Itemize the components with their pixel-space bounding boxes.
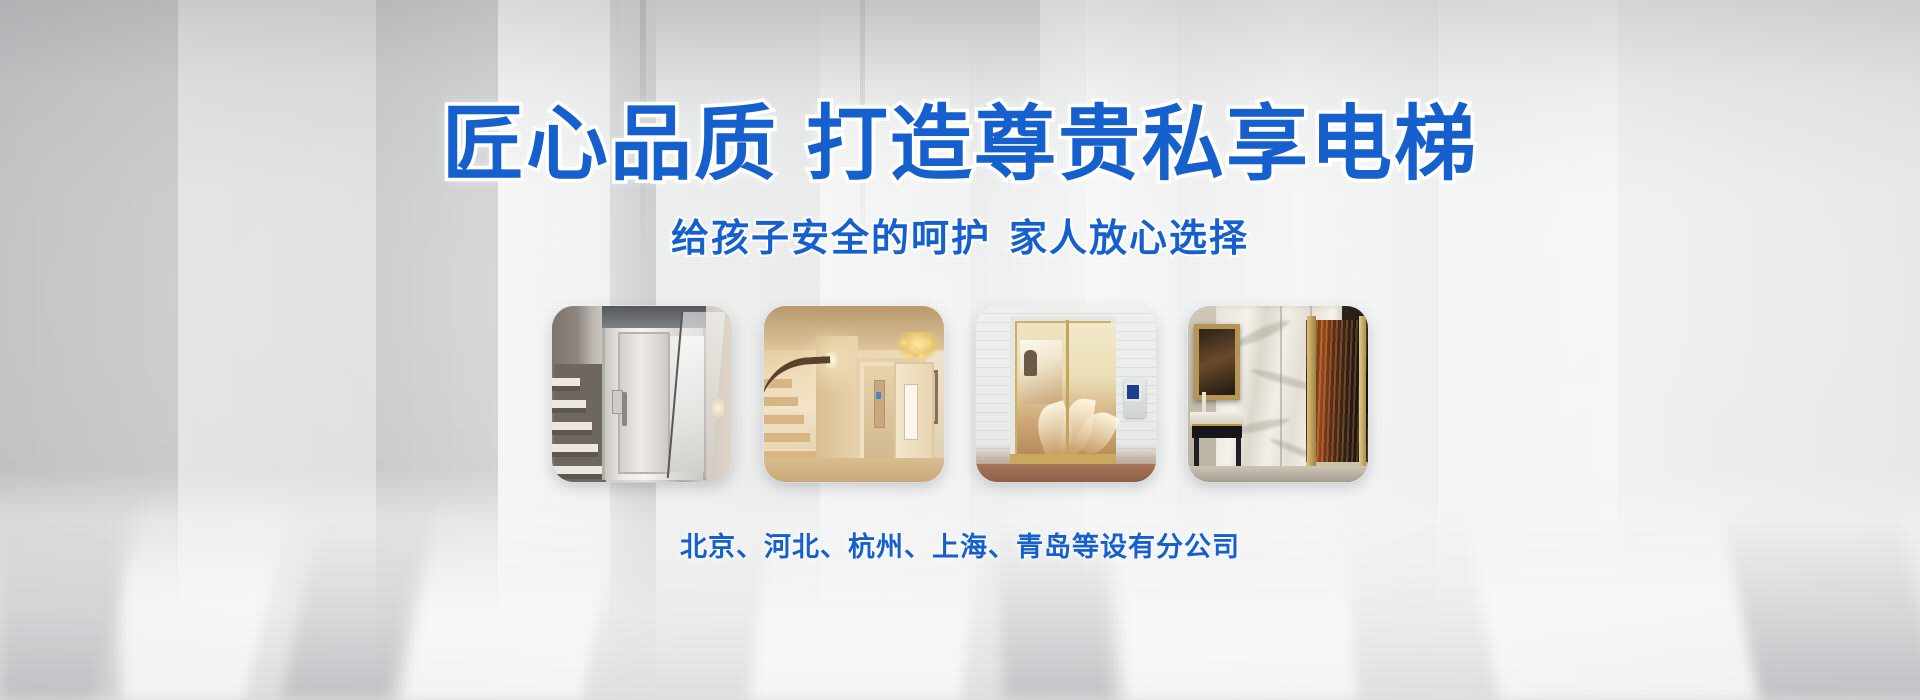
thumb-4-console-table-apron	[1192, 424, 1242, 438]
thumb-2-floor	[764, 458, 944, 482]
thumb-2-door-vision-panel	[904, 384, 918, 440]
headline-part-2: 打造尊贵私享电梯	[806, 99, 1478, 190]
thumb-1-step	[552, 378, 580, 386]
thumb-1-step	[552, 422, 592, 430]
thumb-3-floor-indicator-screen	[1125, 383, 1141, 401]
promo-banner: 匠心品质打造尊贵私享电梯 给孩子安全的呵护家人放心选择	[0, 0, 1920, 700]
banner-headline: 匠心品质打造尊贵私享电梯	[442, 104, 1478, 186]
thumbnail-marble-lobby-wood-grain-elevator[interactable]	[1188, 306, 1368, 482]
thumb-3-silhouette	[1024, 350, 1037, 376]
thumb-1-step	[552, 400, 586, 408]
thumb-3-floor	[976, 464, 1156, 482]
branch-offices-caption: 北京、河北、杭州、上海、青岛等设有分公司	[680, 534, 1240, 561]
thumb-2-cabin-panel	[874, 380, 885, 428]
thumb-2-chandelier-bulb	[925, 340, 930, 345]
thumb-2-cabin-button	[876, 392, 881, 399]
thumbnail-silver-home-elevator-with-staircase[interactable]	[552, 306, 732, 482]
thumb-1-step	[552, 444, 598, 452]
thumb-1-image	[552, 306, 732, 482]
thumb-4-panel-seam	[1280, 306, 1282, 482]
banner-subheadline: 给孩子安全的呵护家人放心选择	[671, 220, 1249, 258]
thumb-2-chandelier-bulb	[913, 346, 918, 351]
thumb-4-door-jamb-right	[1359, 316, 1366, 470]
thumb-3-kick-plate	[1010, 454, 1116, 464]
thumb-2-chandelier-bulb	[901, 340, 906, 345]
thumb-2-step	[764, 431, 810, 442]
thumb-4-framed-artwork	[1194, 324, 1240, 400]
thumb-1-door-handle	[622, 392, 627, 426]
subheadline-part-2: 家人放心选择	[1009, 218, 1249, 260]
thumb-4-door-jamb-left	[1307, 316, 1316, 470]
thumb-3-image	[976, 306, 1156, 482]
thumbnail-gold-glass-door-elevator[interactable]	[976, 306, 1156, 482]
thumb-1-wall-sconce	[712, 398, 724, 418]
thumb-4-candlestick	[1202, 392, 1206, 414]
headline-part-1: 匠心品质	[442, 99, 778, 190]
thumb-3-door-split-line	[1066, 320, 1069, 460]
thumb-2-image	[764, 306, 944, 482]
thumbnail-gallery	[552, 306, 1368, 482]
thumb-4-floor	[1188, 466, 1368, 482]
thumbnail-beige-villa-elevator-with-chandelier[interactable]	[764, 306, 944, 482]
thumb-1-step	[552, 466, 604, 474]
thumb-4-image	[1188, 306, 1368, 482]
banner-content: 匠心品质打造尊贵私享电梯 给孩子安全的呵护家人放心选择	[0, 0, 1920, 700]
subheadline-part-1: 给孩子安全的呵护	[671, 218, 991, 260]
